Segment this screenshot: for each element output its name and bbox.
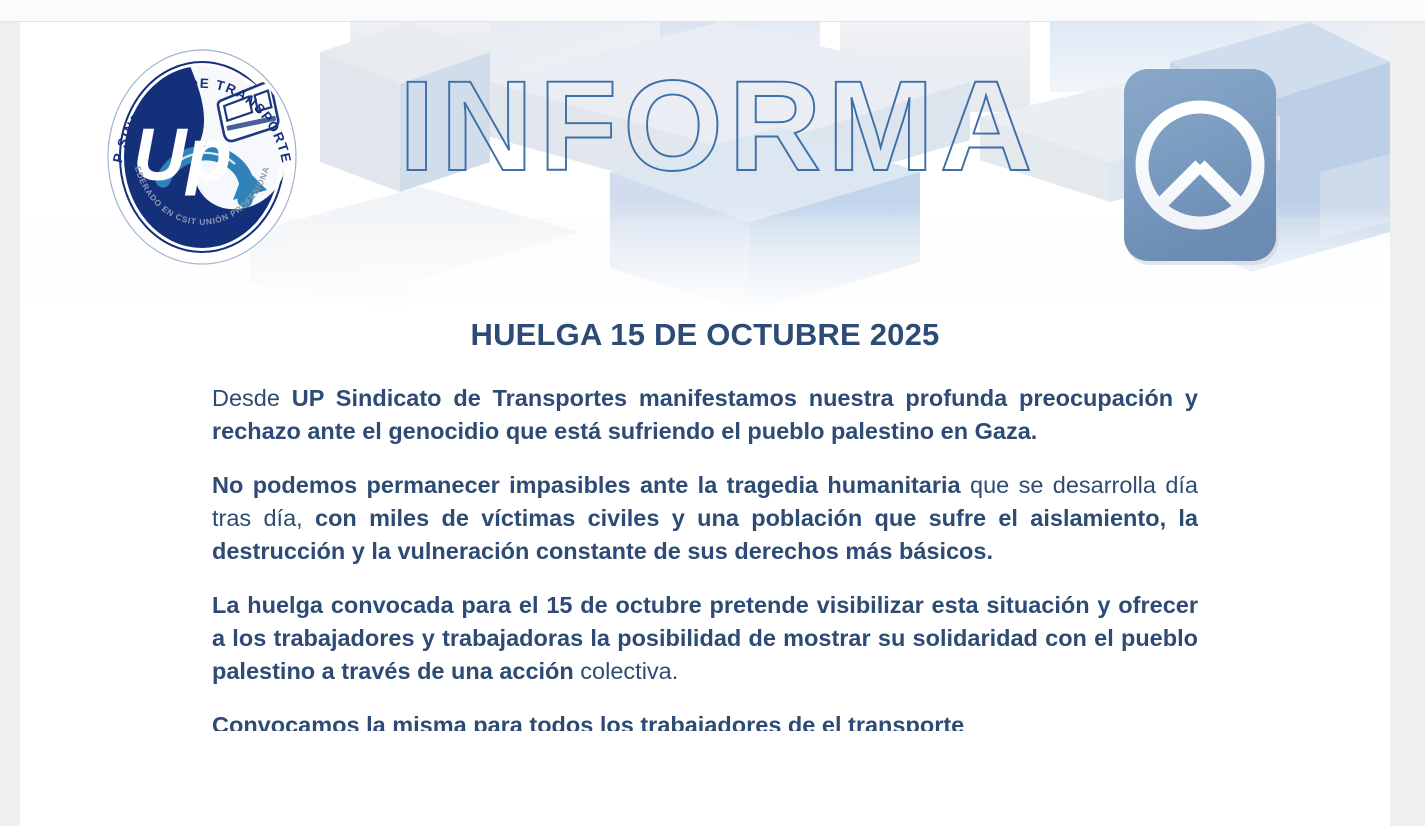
paragraph-2: No podemos permanecer impasibles ante la… — [212, 469, 1198, 568]
informa-wordmark-text: INFORMA — [399, 60, 1038, 198]
document-page: Up UP SINDICATO DE TRANSPORTES FEDERADO … — [20, 22, 1390, 826]
informa-wordmark: INFORMA — [395, 60, 1075, 200]
up-sindicato-logo: Up UP SINDICATO DE TRANSPORTES FEDERADO … — [95, 40, 310, 275]
paragraph-1: Desde UP Sindicato de Transportes manife… — [212, 382, 1198, 448]
peace-symbol-badge — [1106, 53, 1291, 268]
document-body: Desde UP Sindicato de Transportes manife… — [212, 382, 1198, 752]
viewer-top-strip — [0, 0, 1425, 22]
paragraph-3: La huelga convocada para el 15 de octubr… — [212, 589, 1198, 688]
paragraph-4-clipped: Convocamos la misma para todos los traba… — [212, 709, 1198, 731]
page-title: HUELGA 15 DE OCTUBRE 2025 — [20, 317, 1390, 353]
